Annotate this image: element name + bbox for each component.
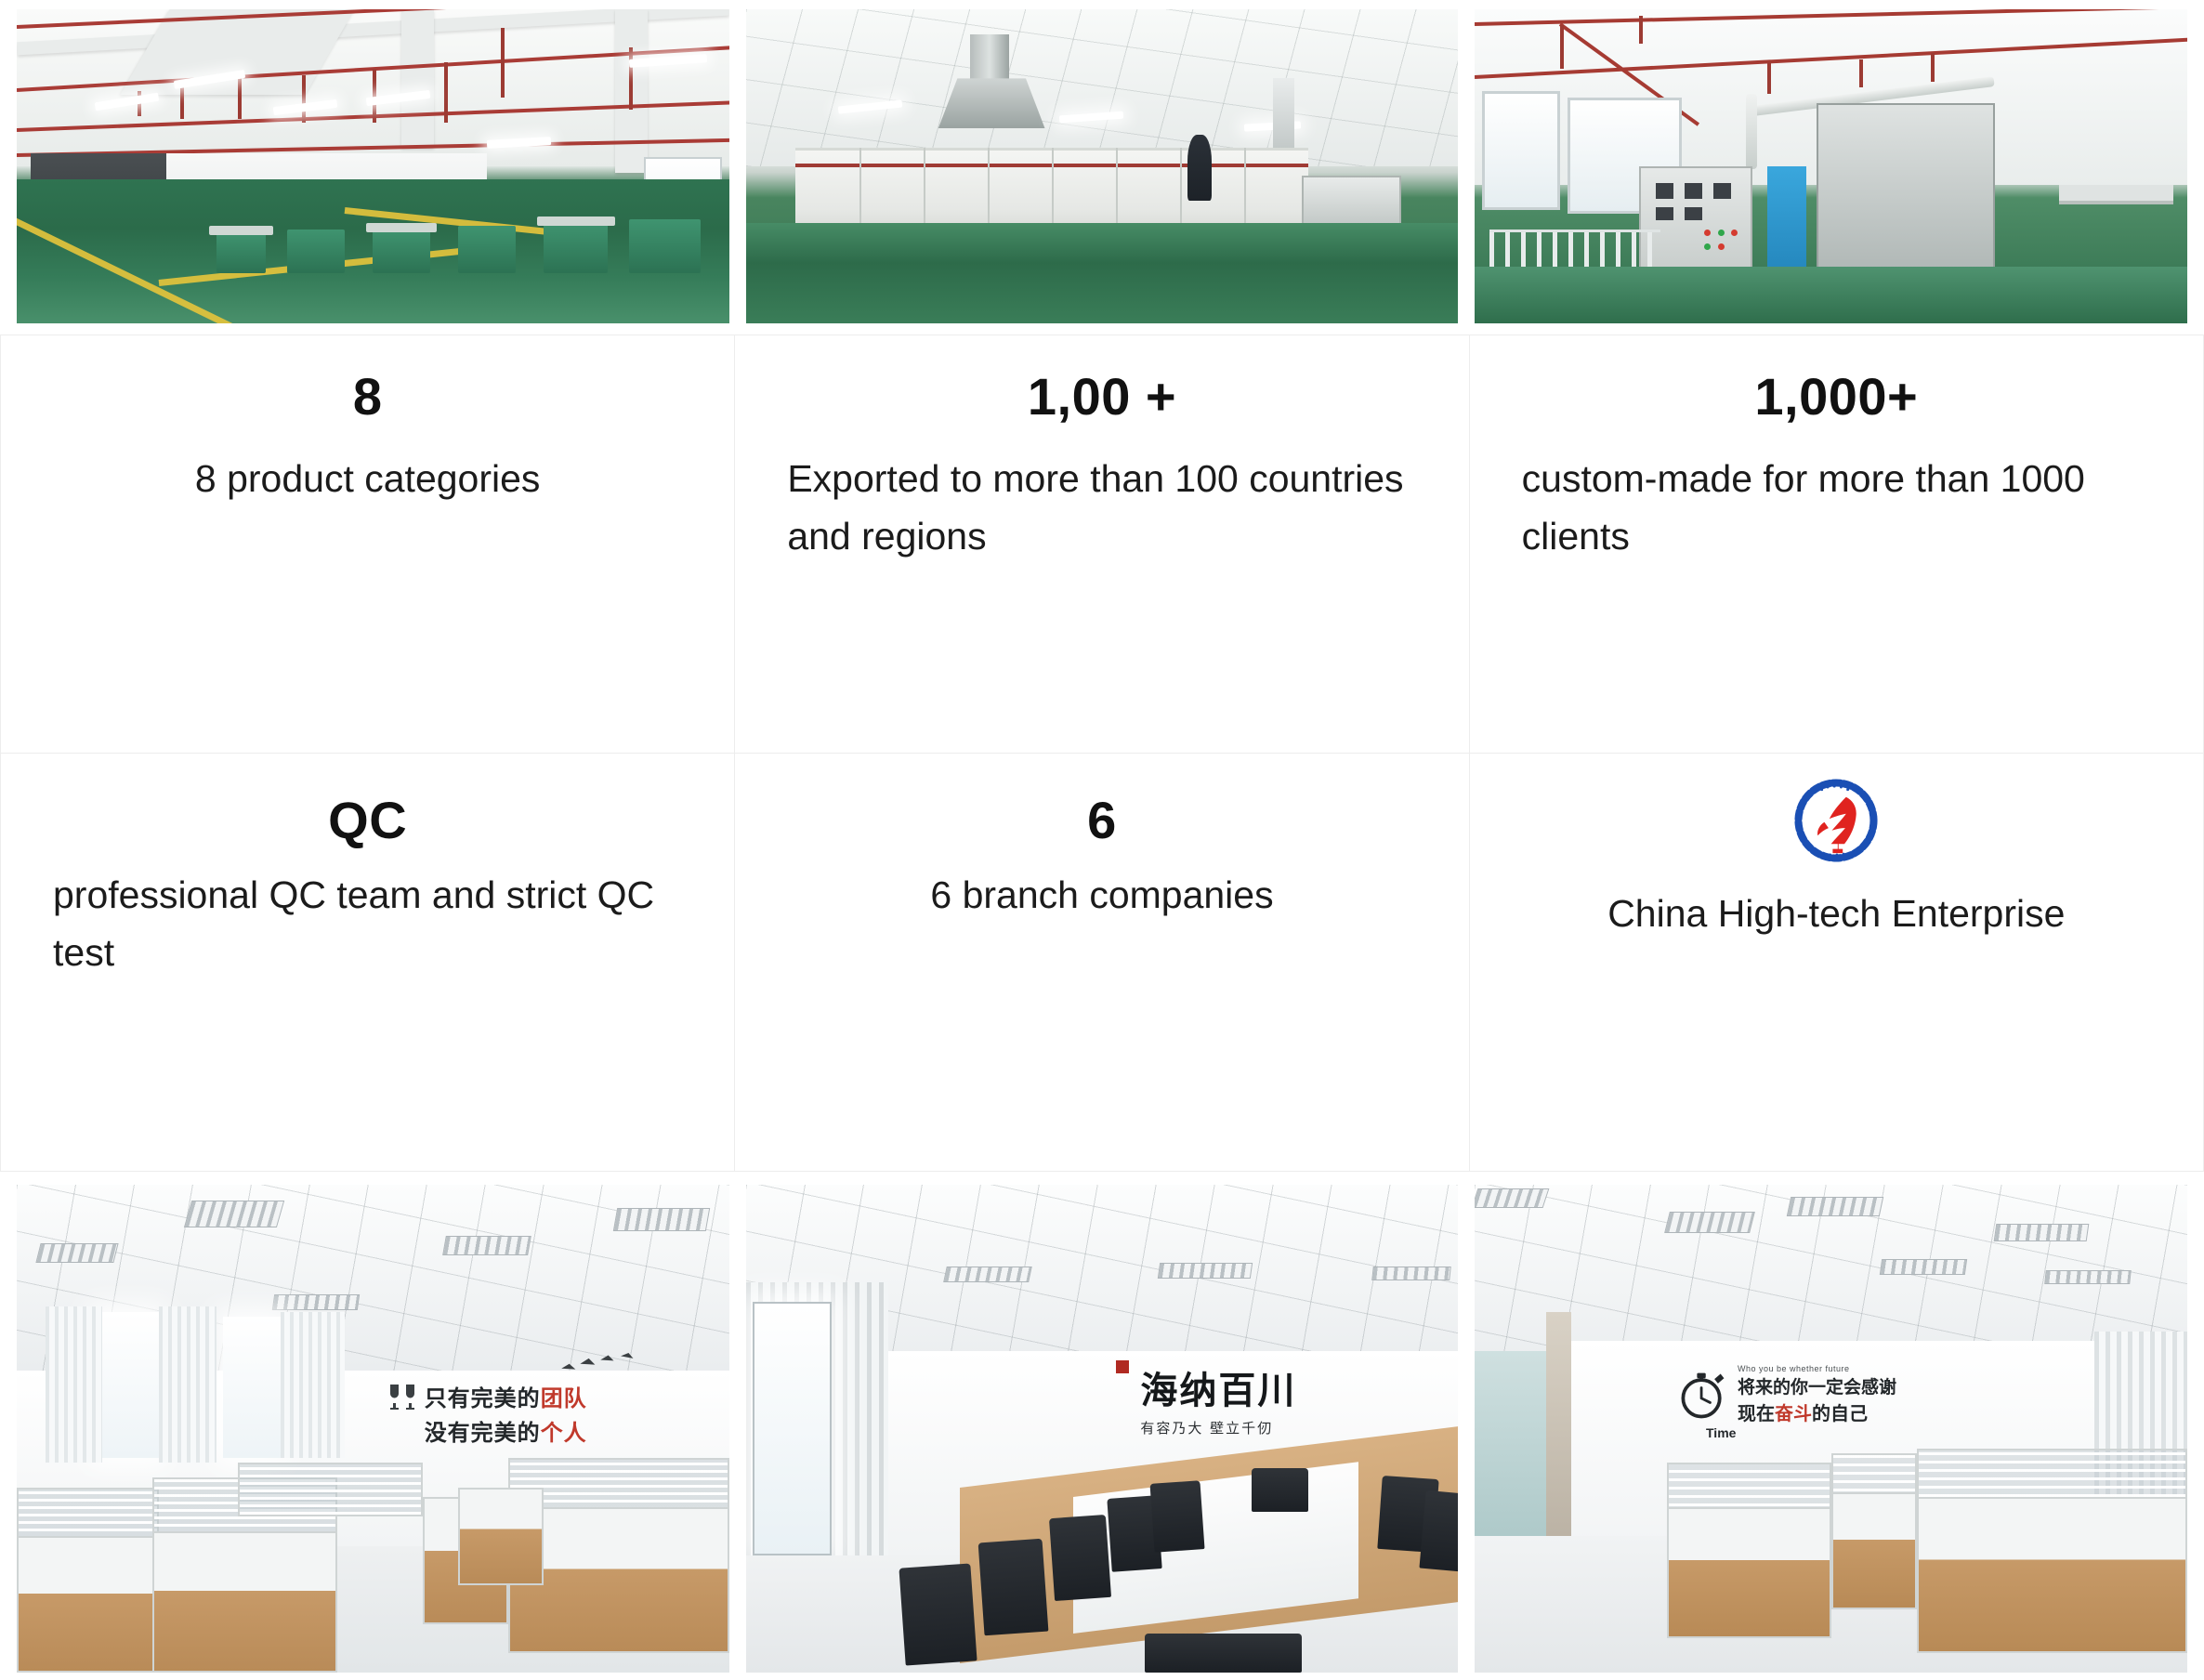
stat-label: Exported to more than 100 countries and …: [787, 451, 1416, 565]
decal-team-line-2: 没有完美的个人: [425, 1421, 587, 1446]
work-table: [2059, 185, 2173, 203]
cubicle-glass: [238, 1463, 423, 1516]
indicator-led-red: [1731, 230, 1738, 236]
machine-top: [366, 223, 438, 232]
company-profile-page: 8 8 product categories 1,00 + Exported t…: [0, 0, 2204, 1680]
chair: [1149, 1480, 1204, 1552]
ceiling-light-panel: [35, 1243, 119, 1263]
ceiling-light-panel: [2044, 1270, 2132, 1284]
chair: [977, 1539, 1048, 1635]
stat-cell-qc-team: QC professional QC team and strict QC te…: [1, 754, 735, 1172]
wall-decal-time-slogan: Who you be whether future 将来的你一定会感谢 现在奋斗…: [1674, 1351, 2016, 1439]
pipe-drop: [238, 78, 242, 119]
indicator-led-red: [1704, 230, 1711, 236]
pipe-drop: [629, 47, 633, 111]
cubicle-partition: [1667, 1507, 1830, 1639]
epoxy-floor: [746, 223, 1459, 323]
chair-foreground: [1145, 1634, 1302, 1673]
stat-cell-high-tech-enterprise: China High-tech Enterprise: [1470, 754, 2204, 1172]
epoxy-floor: [1475, 267, 2187, 323]
photo-open-office-time: Who you be whether future 将来的你一定会感谢 现在奋斗…: [1475, 1185, 2187, 1673]
pipe-drop: [1931, 53, 1935, 81]
stat-label: 6 branch companies: [787, 867, 1416, 925]
window: [1482, 91, 1560, 210]
curtain: [46, 1306, 102, 1463]
photo-industrial-machine: [1475, 9, 2187, 323]
meter-display: [1685, 183, 1702, 199]
meter-display: [1713, 183, 1731, 199]
stat-value: 8: [353, 367, 383, 427]
ceiling-vent: [1158, 1263, 1253, 1279]
glass-partition-wall: [1475, 1351, 1553, 1566]
cubicle-partition: [1831, 1492, 1917, 1609]
chair: [1049, 1515, 1111, 1601]
ceiling-light-panel: [1994, 1224, 2089, 1241]
cubicle-glass: [17, 1488, 159, 1542]
ceiling-light-panel: [1786, 1197, 1883, 1216]
machine-top: [209, 226, 273, 235]
decal-time-line-2: 现在奋斗的自己: [1738, 1398, 1896, 1425]
stat-label: custom-made for more than 1000 clients: [1522, 451, 2151, 565]
stat-cell-product-categories: 8 8 product categories: [1, 335, 735, 754]
ceiling-light-panel: [184, 1201, 284, 1227]
window: [223, 1317, 280, 1458]
stat-value: 1,00 +: [1028, 367, 1176, 427]
ceiling-light-panel: [1475, 1188, 1549, 1208]
stat-cell-branch-companies: 6 6 branch companies: [735, 754, 1469, 1172]
meter-display: [1656, 207, 1673, 220]
machine-top: [537, 217, 615, 226]
air-duct-riser: [1746, 94, 1757, 169]
cubicle-partition: [152, 1531, 337, 1673]
window: [95, 1312, 159, 1459]
workbench: [458, 226, 515, 273]
operator: [1187, 135, 1212, 201]
photo-meeting-room: 海纳百川 有容乃大 壁立千仞: [746, 1185, 1459, 1673]
decal-time-word: Time: [1706, 1425, 1736, 1440]
decal-time-line-1: 将来的你一定会感谢: [1738, 1373, 1896, 1398]
stainless-cart: [1302, 176, 1401, 226]
pipe-drop: [180, 85, 184, 119]
ceiling-light-panel: [442, 1236, 531, 1255]
stat-value: 6: [1087, 791, 1117, 850]
pipe-drop: [501, 28, 505, 97]
desk-return: [458, 1488, 544, 1585]
curtain: [159, 1306, 216, 1463]
pipe-drop: [1859, 59, 1863, 87]
stat-label: China High-tech Enterprise: [1522, 886, 2151, 943]
chair: [899, 1563, 977, 1665]
trophy-icons: [387, 1383, 419, 1411]
column: [401, 9, 434, 148]
pipe-drop: [1639, 16, 1643, 44]
stat-label: 8 product categories: [53, 451, 682, 508]
wall-decal-team-slogan: 只有完美的团队 没有完美的个人: [387, 1380, 701, 1458]
window: [753, 1302, 831, 1555]
pipe-drop: [444, 62, 448, 122]
indicator-led-green: [1704, 243, 1711, 250]
wall-decal-calligraphy: 海纳百川 有容乃大 壁立千仞: [1116, 1360, 1386, 1449]
ceiling-light-panel: [613, 1208, 710, 1231]
chair: [1419, 1490, 1458, 1572]
workbench: [544, 223, 608, 273]
pipe-drop: [302, 75, 306, 123]
cubicle-partition: [17, 1536, 159, 1673]
china-high-tech-enterprise-emblem-icon: [1786, 770, 1886, 871]
pipe-drop: [1767, 62, 1771, 94]
seal-mark: [1116, 1360, 1129, 1373]
workbench: [287, 230, 344, 273]
curtain: [281, 1312, 345, 1459]
photo-reflow-tunnel-oven: [746, 9, 1459, 323]
chair-head: [1252, 1468, 1308, 1512]
ceiling-vent: [1372, 1267, 1452, 1280]
workbench: [216, 232, 267, 273]
indicator-led-red: [1718, 243, 1725, 250]
company-stats-grid: 8 8 product categories 1,00 + Exported t…: [0, 335, 2204, 1172]
decal-team-line-1: 只有完美的团队: [425, 1380, 587, 1412]
structural-column: [1546, 1312, 1571, 1556]
indicator-led-green: [1718, 230, 1725, 236]
ceiling-vent: [944, 1267, 1033, 1282]
meter-display: [1685, 207, 1702, 220]
calligraphy-main: 海纳百川: [1140, 1360, 1296, 1414]
stopwatch-icon: [1674, 1367, 1730, 1423]
ceiling-light-panel: [1880, 1259, 1967, 1275]
ceiling-light-panel: [1664, 1212, 1755, 1233]
meter-display: [1656, 183, 1673, 199]
stat-label: professional QC team and strict QC test: [53, 867, 682, 981]
birds-icon: [531, 1353, 676, 1380]
calligraphy-sub: 有容乃大 壁立千仞: [1140, 1418, 1296, 1437]
ceiling-grid: [746, 9, 1459, 166]
cubicle-partition: [1917, 1497, 2187, 1653]
pipe-drop: [1560, 25, 1564, 69]
stat-value: QC: [328, 791, 407, 850]
stat-value: 1,000+: [1754, 367, 1918, 427]
decal-time-english: Who you be whether future: [1738, 1364, 1896, 1373]
bottom-photo-row: 只有完美的团队 没有完美的个人: [0, 1185, 2204, 1680]
photo-open-office-team: 只有完美的团队 没有完美的个人: [17, 1185, 729, 1673]
ceiling-light-panel: [272, 1294, 360, 1310]
exhaust-duct: [970, 34, 1009, 82]
workbench: [629, 219, 701, 272]
top-photo-row: [0, 0, 2204, 323]
photo-factory-workshop: [17, 9, 729, 323]
stat-cell-exported-countries: 1,00 + Exported to more than 100 countri…: [735, 335, 1469, 754]
stat-cell-custom-made-clients: 1,000+ custom-made for more than 1000 cl…: [1470, 335, 2204, 754]
workbench: [373, 230, 429, 273]
